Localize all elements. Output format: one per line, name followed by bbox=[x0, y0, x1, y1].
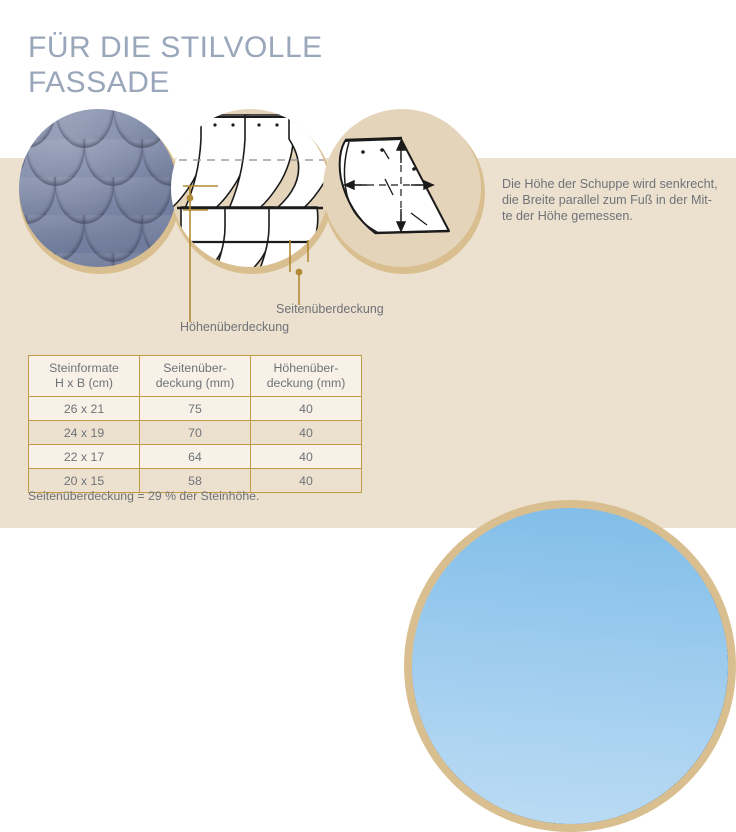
page-title-line1: FÜR DIE STILVOLLE bbox=[28, 30, 323, 65]
header-cell-line1: Steinformate bbox=[29, 361, 139, 376]
cell-seite: 75 bbox=[140, 397, 251, 421]
header-cell-line1: Höhenüber- bbox=[251, 361, 361, 376]
info-paragraph: Die Höhe der Schuppe wird senkrecht, die… bbox=[502, 176, 732, 224]
stone-formats-table: Steinformate H x B (cm) Seitenüber- deck… bbox=[28, 355, 362, 493]
table-row: 22 x 17 64 40 bbox=[29, 445, 362, 469]
header-cell-line2: H x B (cm) bbox=[29, 376, 139, 391]
table-header-row: Steinformate H x B (cm) Seitenüber- deck… bbox=[29, 356, 362, 397]
cell-hoehe: 40 bbox=[251, 445, 362, 469]
cell-format: 26 x 21 bbox=[29, 397, 140, 421]
cell-seite: 70 bbox=[140, 421, 251, 445]
table-header-hoehenueberdeckung: Höhenüber- deckung (mm) bbox=[251, 356, 362, 397]
header-cell-line2: deckung (mm) bbox=[140, 376, 250, 391]
table-header-steinformate: Steinformate H x B (cm) bbox=[29, 356, 140, 397]
table-row: 26 x 21 75 40 bbox=[29, 397, 362, 421]
cell-hoehe: 40 bbox=[251, 397, 362, 421]
callout-label-seitenueberdeckung: Seitenüberdeckung bbox=[276, 302, 384, 316]
page-title-line2: FASSADE bbox=[28, 65, 323, 100]
callout-label-hoehenueberdeckung: Höhenüberdeckung bbox=[180, 320, 289, 334]
stone-formats-table-wrapper: Steinformate H x B (cm) Seitenüber- deck… bbox=[28, 355, 362, 493]
table-footnote: Seitenüberdeckung = 29 % der Steinhöhe. bbox=[28, 489, 259, 503]
header-cell-line2: deckung (mm) bbox=[251, 376, 361, 391]
table-row: 24 x 19 70 40 bbox=[29, 421, 362, 445]
cell-format: 24 x 19 bbox=[29, 421, 140, 445]
page-title: FÜR DIE STILVOLLE FASSADE bbox=[28, 30, 323, 100]
cell-format: 22 x 17 bbox=[29, 445, 140, 469]
cell-seite: 64 bbox=[140, 445, 251, 469]
info-line-1: Die Höhe der Schuppe wird senkrecht, bbox=[502, 176, 732, 192]
info-line-2: die Breite parallel zum Fuß in der Mit- bbox=[502, 192, 732, 208]
info-line-3: te der Höhe gemessen. bbox=[502, 208, 732, 224]
header-cell-line1: Seitenüber- bbox=[140, 361, 250, 376]
cell-hoehe: 40 bbox=[251, 469, 362, 493]
cell-hoehe: 40 bbox=[251, 421, 362, 445]
table-header-seitenueberdeckung: Seitenüber- deckung (mm) bbox=[140, 356, 251, 397]
sky-background bbox=[412, 508, 728, 824]
dormer-roof-photo-circle bbox=[412, 508, 728, 824]
callout-leader-lines bbox=[0, 100, 520, 350]
